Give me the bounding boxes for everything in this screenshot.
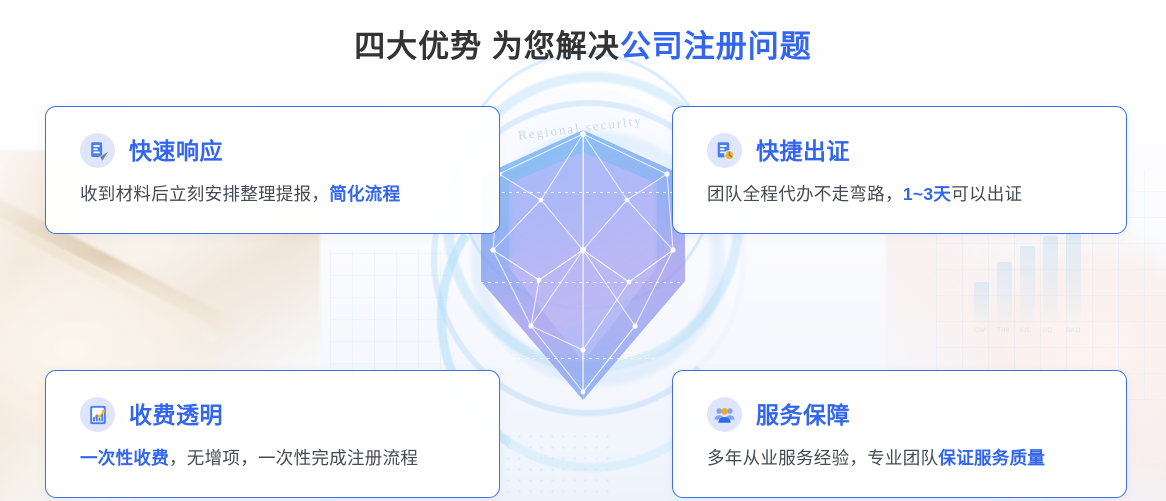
card-header: 收费透明: [46, 371, 499, 432]
document-send-icon: [80, 133, 115, 168]
advantage-card-fast-certificate[interactable]: 快捷出证 团队全程代办不走弯路，1~3天可以出证: [672, 106, 1127, 234]
card-title: 收费透明: [129, 402, 223, 428]
card-desc-suffix: 可以出证: [951, 184, 1022, 204]
page-title-plain: 四大优势 为您解决: [354, 29, 620, 64]
page-title-accent: 公司注册问题: [620, 29, 812, 64]
card-desc-prefix: 收到材料后立刻安排整理提报，: [80, 184, 329, 204]
card-description: 收到材料后立刻安排整理提报，简化流程: [46, 168, 499, 207]
card-title: 快速响应: [129, 138, 223, 164]
card-description: 团队全程代办不走弯路，1~3天可以出证: [673, 168, 1126, 207]
card-title: 快捷出证: [756, 138, 850, 164]
card-header: 快捷出证: [673, 107, 1126, 168]
advantage-card-service-guarantee[interactable]: 服务保障 多年从业服务经验，专业团队保证服务质量: [672, 370, 1127, 498]
card-title: 服务保障: [756, 402, 850, 428]
card-header: 服务保障: [673, 371, 1126, 432]
card-desc-prefix: 多年从业服务经验，专业团队: [707, 448, 938, 468]
card-desc-suffix: ，无增项，一次性完成注册流程: [169, 448, 418, 468]
page-title: 四大优势 为您解决公司注册问题: [0, 27, 1166, 67]
card-desc-highlight: 保证服务质量: [938, 448, 1045, 468]
card-desc-highlight: 简化流程: [329, 184, 400, 204]
advantage-card-transparent-pricing[interactable]: 收费透明 一次性收费，无增项，一次性完成注册流程: [45, 370, 500, 498]
card-desc-highlight: 1~3天: [903, 184, 951, 204]
card-desc-prefix: 团队全程代办不走弯路，: [707, 184, 903, 204]
people-group-icon: [707, 397, 742, 432]
card-description: 多年从业服务经验，专业团队保证服务质量: [673, 432, 1126, 471]
advantage-card-fast-response[interactable]: 快速响应 收到材料后立刻安排整理提报，简化流程: [45, 106, 500, 234]
chart-growth-icon: [80, 397, 115, 432]
card-desc-highlight: 一次性收费: [80, 448, 169, 468]
card-description: 一次性收费，无增项，一次性完成注册流程: [46, 432, 499, 471]
document-clock-icon: [707, 133, 742, 168]
card-header: 快速响应: [46, 107, 499, 168]
advantage-card-grid: 快速响应 收到材料后立刻安排整理提报，简化流程 快捷出证 团队全程代办不走弯路，…: [0, 0, 1166, 501]
